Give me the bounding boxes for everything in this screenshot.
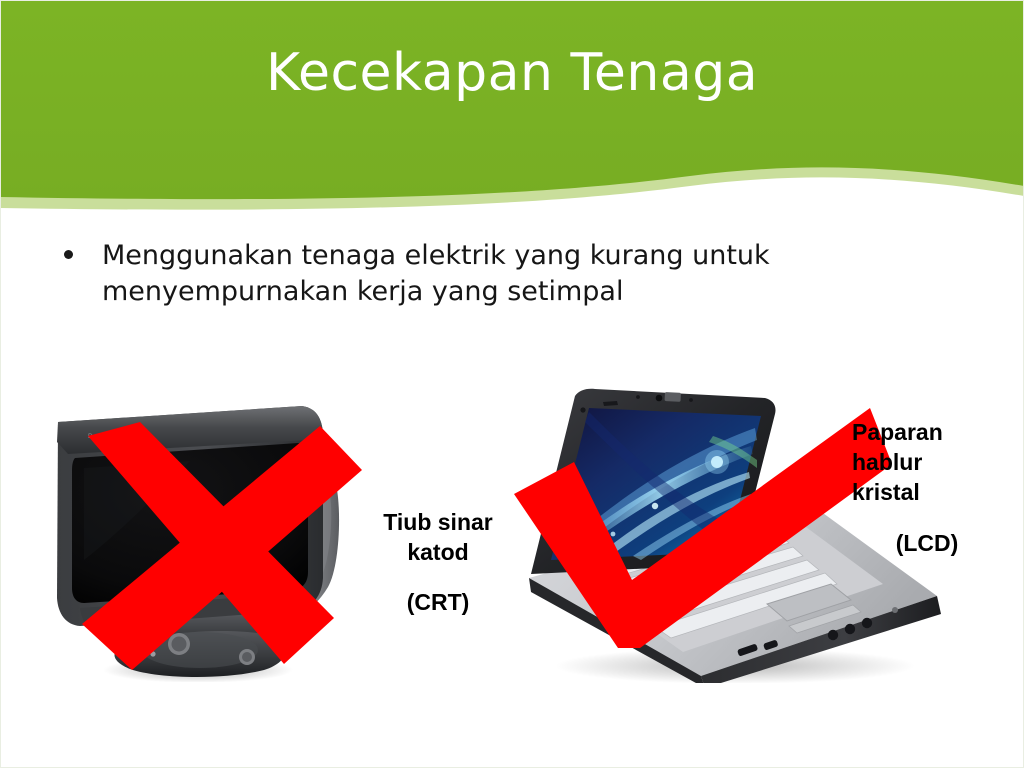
lcd-caption: Paparan hablur kristal (LCD) bbox=[852, 418, 1022, 559]
crt-caption-abbr: (CRT) bbox=[338, 588, 538, 618]
bullet-dot-icon bbox=[64, 250, 73, 259]
slide-canvas: Kecekapan Tenaga Menggunakan tenaga elek… bbox=[0, 0, 1024, 768]
crt-monitor-image: Desktop bbox=[40, 382, 350, 682]
crt-brand-label: Desktop bbox=[88, 433, 112, 440]
header-banner: Kecekapan Tenaga bbox=[0, 0, 1024, 225]
lcd-caption-line-3: kristal bbox=[852, 478, 1022, 508]
laptop-indicator-led bbox=[892, 607, 898, 613]
lcd-caption-line-1: Paparan bbox=[852, 418, 1022, 448]
crt-led-indicator bbox=[141, 652, 148, 659]
body-bullet-list: Menggunakan tenaga elektrik yang kurang … bbox=[58, 238, 818, 309]
page-title: Kecekapan Tenaga bbox=[0, 46, 1024, 101]
laptop-bezel-logo bbox=[665, 392, 681, 402]
crt-caption-line-2: katod bbox=[338, 538, 538, 568]
bullet-item: Menggunakan tenaga elektrik yang kurang … bbox=[58, 238, 818, 309]
lcd-caption-line-2: hablur bbox=[852, 448, 1022, 478]
crt-caption: Tiub sinar katod (CRT) bbox=[338, 508, 538, 618]
crt-caption-line-1: Tiub sinar bbox=[338, 508, 538, 538]
bullet-text: Menggunakan tenaga elektrik yang kurang … bbox=[102, 240, 770, 307]
laptop-webcam bbox=[656, 395, 663, 402]
lcd-caption-abbr: (LCD) bbox=[852, 529, 1002, 559]
